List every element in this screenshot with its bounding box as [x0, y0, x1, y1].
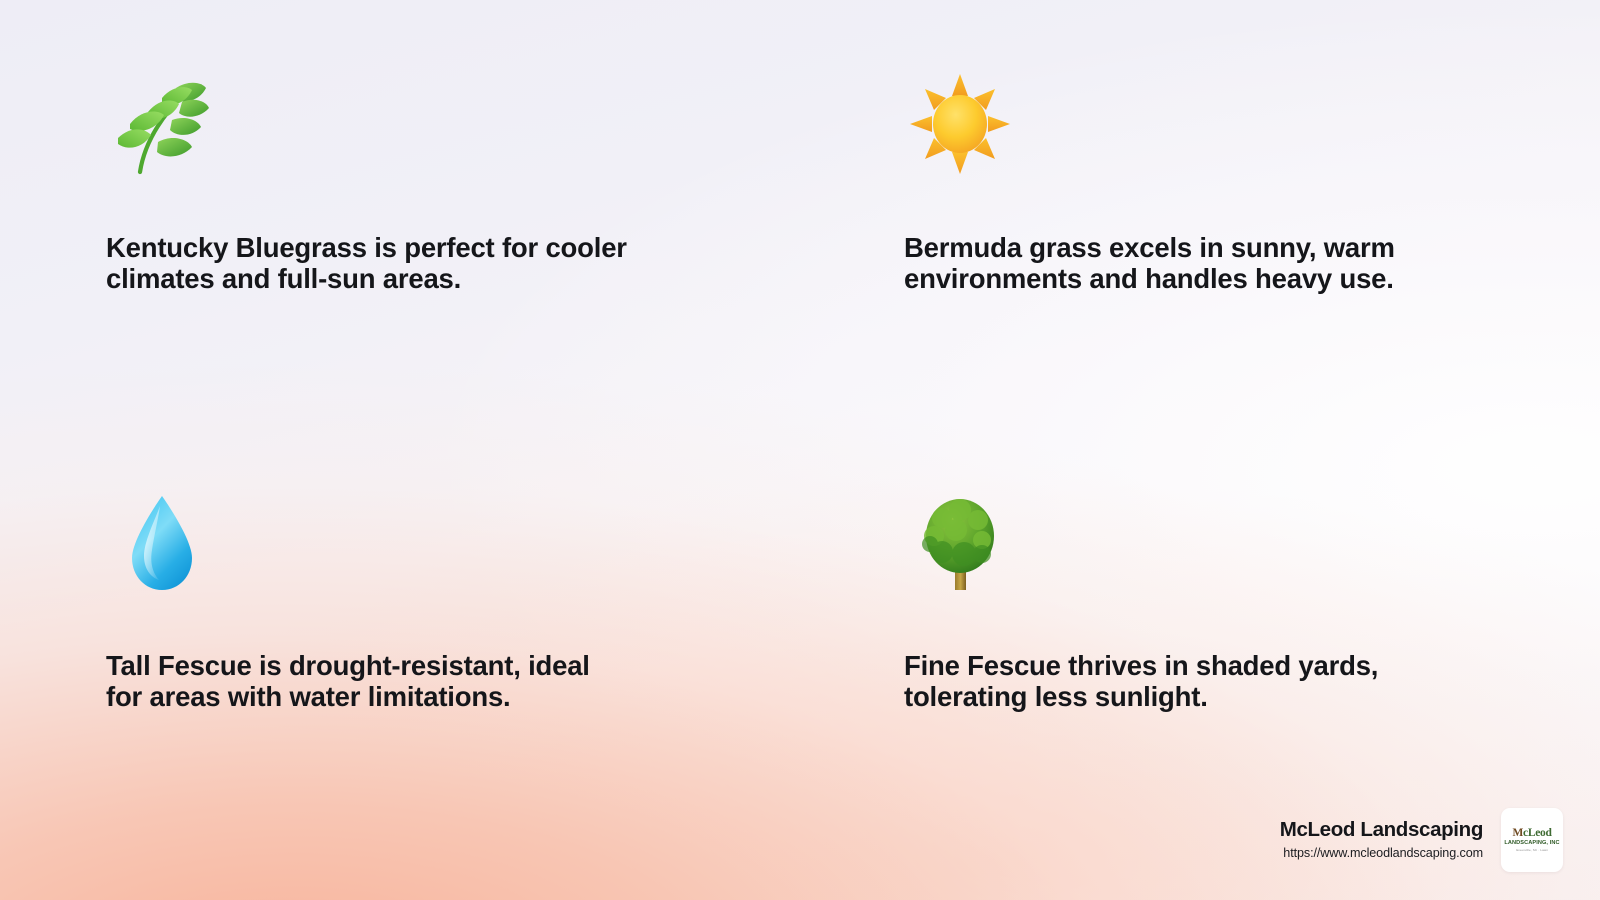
brand-logo-word-cap: M: [1512, 827, 1523, 839]
brand-name: McLeod Landscaping: [1280, 817, 1483, 842]
brand-logo-wordmark: McLeod: [1512, 828, 1551, 839]
feature-card-text: Bermuda grass excels in sunny, warm envi…: [904, 232, 1484, 294]
feature-card-text: Fine Fescue thrives in shaded yards, tol…: [904, 650, 1484, 712]
feature-card-tall-fescue: Tall Fescue is drought-resistant, ideal …: [106, 492, 746, 712]
feature-card-bermuda-grass: Bermuda grass excels in sunny, warm envi…: [904, 72, 1544, 294]
brand-logo-word-rest: cLeod: [1523, 827, 1552, 839]
brand-logo-badge: McLeod LANDSCAPING, INC Greenville, SC ·…: [1501, 808, 1563, 872]
feature-card-text: Tall Fescue is drought-resistant, ideal …: [106, 650, 686, 712]
herb-leaf-icon: [110, 72, 746, 178]
brand-logo-subtitle: LANDSCAPING, INC: [1504, 840, 1559, 847]
feature-card-kentucky-bluegrass: Kentucky Bluegrass is perfect for cooler…: [106, 72, 746, 294]
infographic-canvas: Kentucky Bluegrass is perfect for cooler…: [0, 0, 1600, 900]
brand-url[interactable]: https://www.mcleodlandscaping.com: [1280, 845, 1483, 862]
feature-card-text: Kentucky Bluegrass is perfect for cooler…: [106, 232, 686, 294]
brand-logo-tagline: Greenville, SC · Lawn: [1516, 848, 1548, 853]
feature-card-fine-fescue: Fine Fescue thrives in shaded yards, tol…: [904, 492, 1544, 712]
brand-textblock: McLeod Landscaping https://www.mcleodlan…: [1280, 817, 1483, 864]
sun-icon: [908, 72, 1544, 178]
deciduous-tree-icon: [908, 492, 1544, 598]
branding-block: McLeod Landscaping https://www.mcleodlan…: [1280, 808, 1563, 872]
water-droplet-icon: [110, 492, 746, 598]
